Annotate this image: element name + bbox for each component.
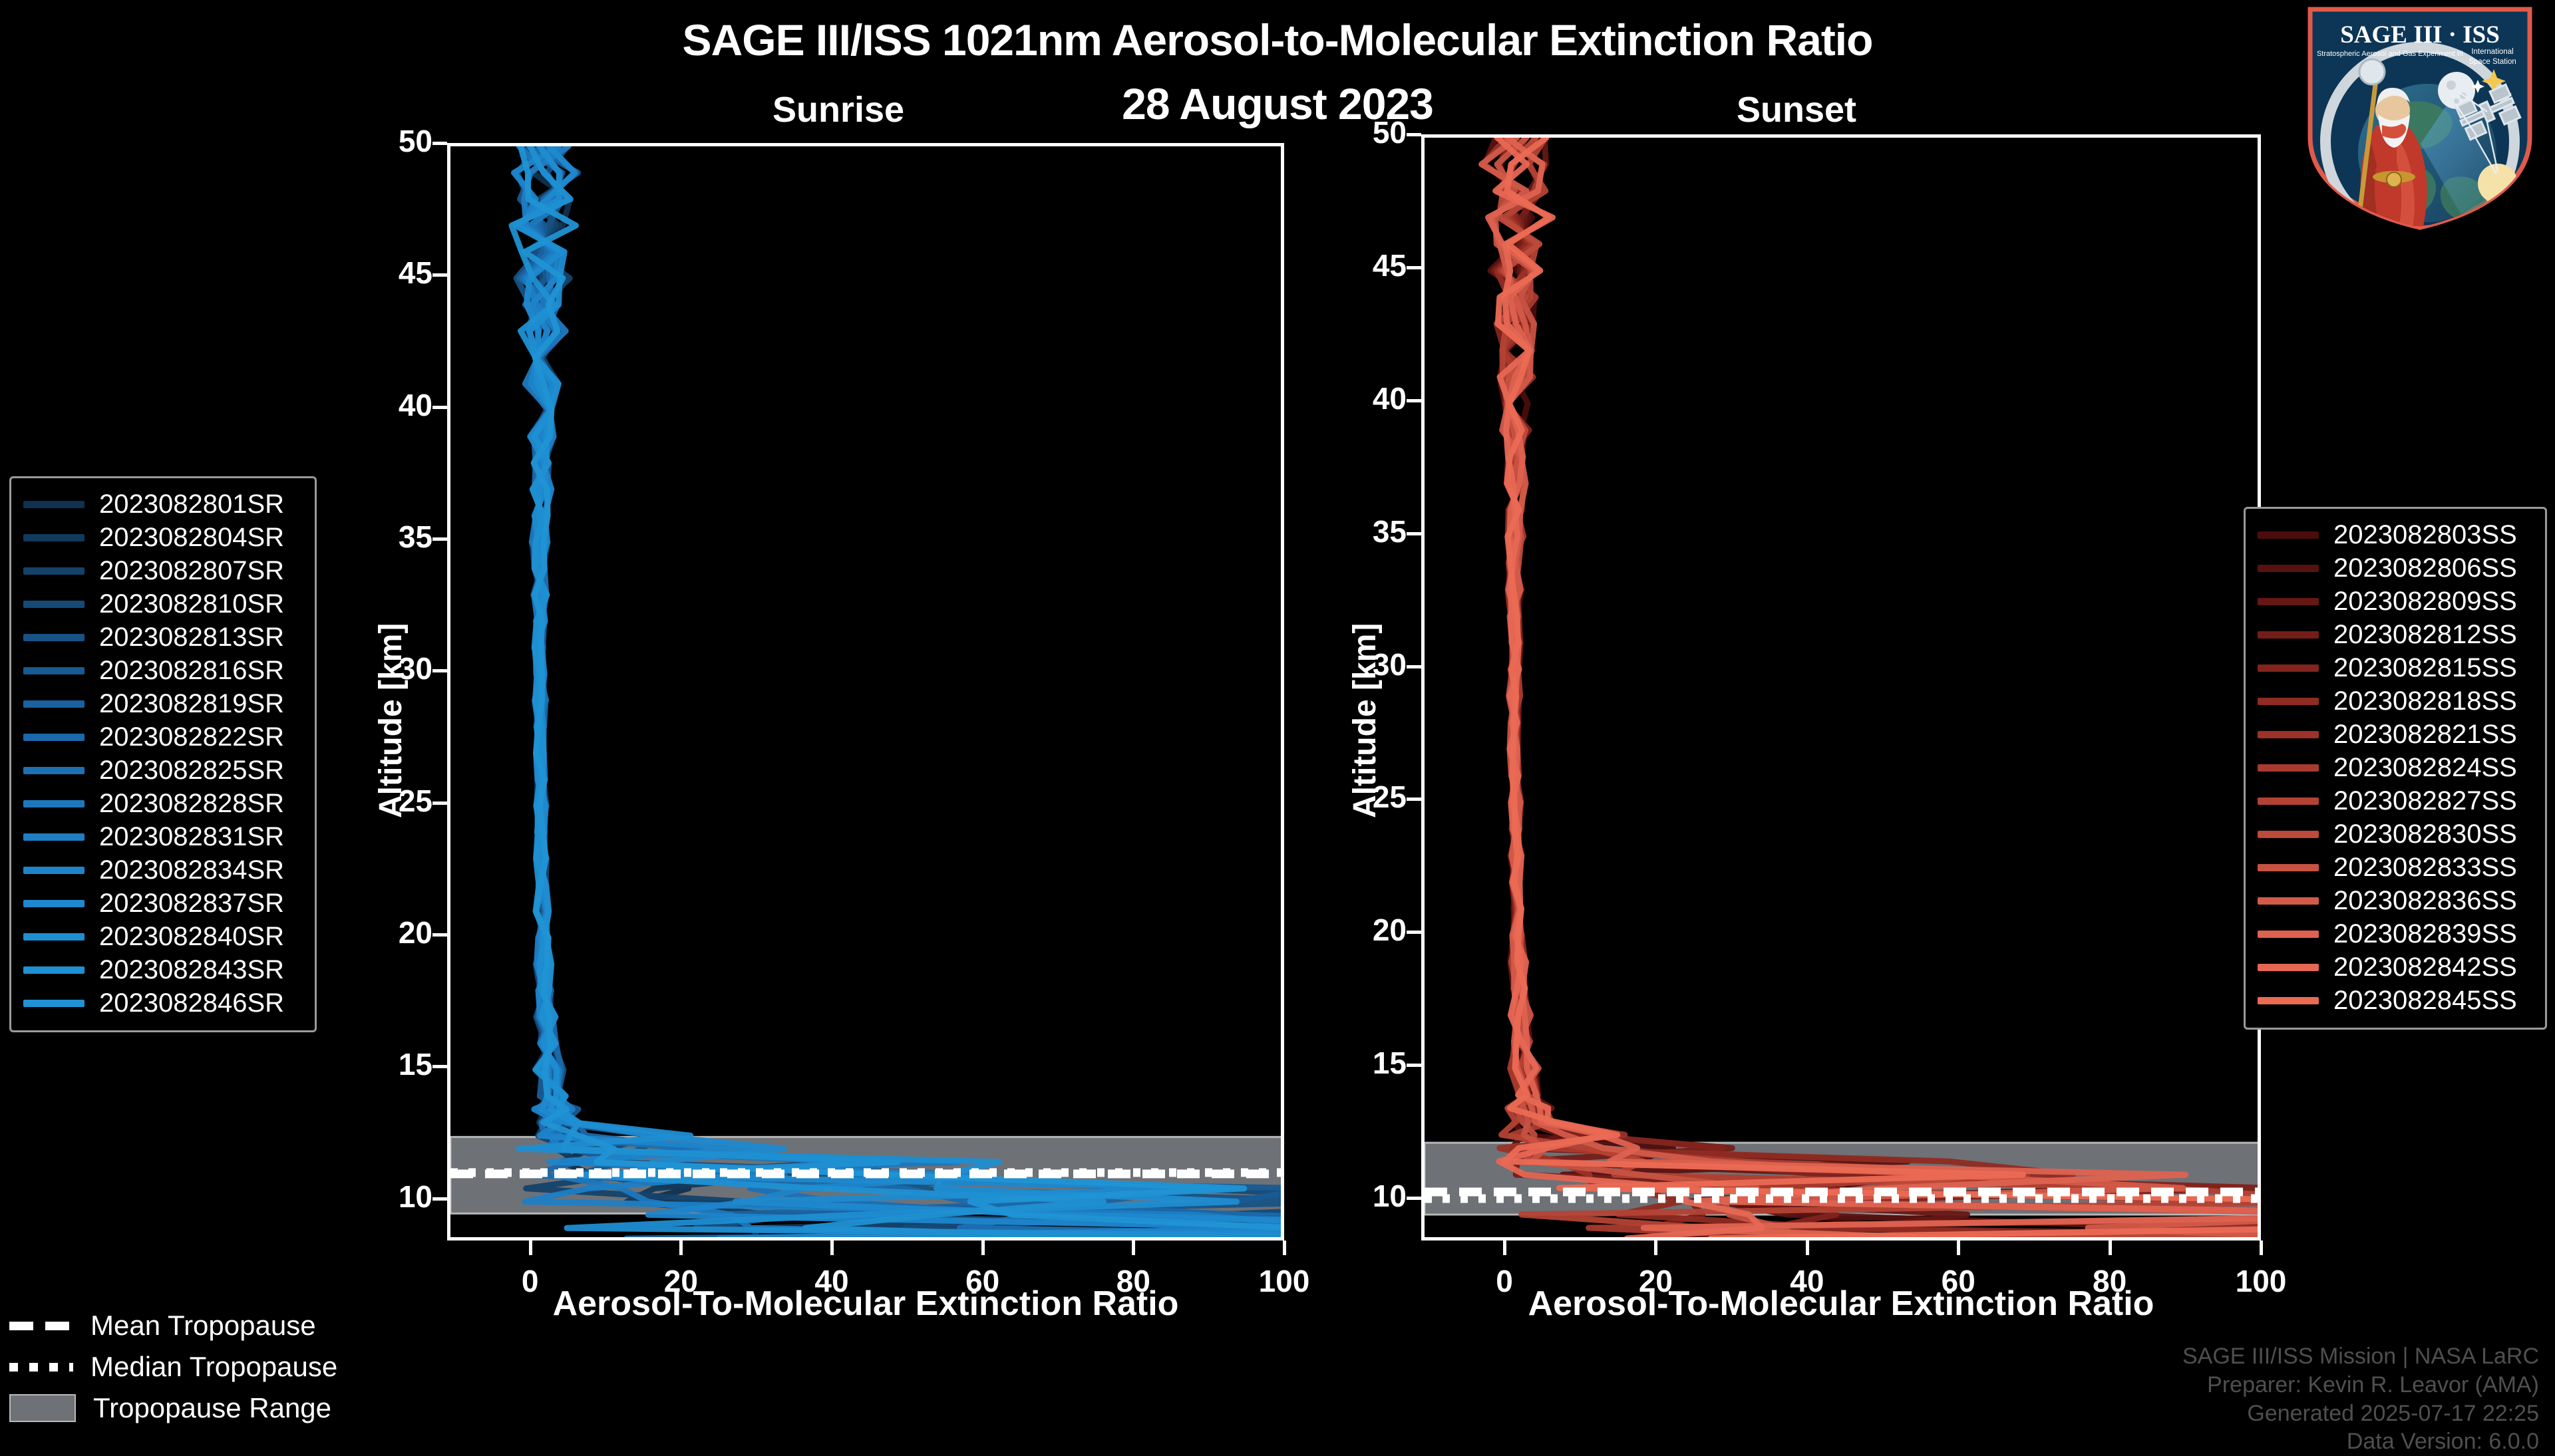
legend-color-swatch [2258, 598, 2319, 605]
sunset-legend-item[interactable]: 2023082830SS [2258, 817, 2533, 851]
x-tick-mark-20 [679, 1240, 683, 1255]
x-tick-label-80: 80 [1080, 1263, 1186, 1299]
logo-subtitle-right-line1: International [2471, 48, 2513, 56]
sunrise-legend-item[interactable]: 2023082804SR [23, 521, 303, 554]
profile-line [1496, 138, 2258, 1237]
y-tick-label-30: 30 [333, 651, 432, 686]
x-tick-mark-0 [1503, 1240, 1506, 1255]
legend-item-label: 2023082806SS [2333, 553, 2517, 583]
sunrise-legend-item[interactable]: 2023082831SR [23, 820, 303, 853]
y-tick-label-15: 15 [1307, 1045, 1407, 1081]
legend-color-swatch [23, 501, 85, 508]
tropopause-legend-label: Median Tropopause [90, 1351, 337, 1383]
panel-title-sunrise: Sunrise [652, 89, 1025, 130]
x-tick-label-0: 0 [477, 1263, 584, 1299]
sunset-legend-item[interactable]: 2023082815SS [2258, 651, 2533, 684]
legend-color-swatch [23, 667, 85, 674]
y-tick-mark-10 [432, 1197, 447, 1201]
profile-line [1505, 138, 2135, 1237]
legend-item-label: 2023082833SS [2333, 853, 2517, 883]
sunset-legend-item[interactable]: 2023082809SS [2258, 585, 2533, 618]
legend-item-label: 2023082809SS [2333, 587, 2517, 617]
y-tick-label-20: 20 [1307, 912, 1407, 948]
legend-item-label: 2023082812SS [2333, 620, 2517, 650]
x-tick-mark-0 [529, 1240, 532, 1255]
profile-line [527, 146, 1267, 1237]
x-tick-label-60: 60 [1905, 1263, 2011, 1299]
x-tick-mark-100 [2260, 1240, 2263, 1255]
legend-item-label: 2023082807SR [99, 556, 284, 586]
x-tick-label-40: 40 [778, 1263, 885, 1299]
legend-item-label: 2023082830SS [2333, 819, 2517, 849]
sunrise-legend-item[interactable]: 2023082816SR [23, 654, 303, 687]
legend-color-swatch [23, 833, 85, 841]
legend-item-label: 2023082815SS [2333, 653, 2517, 683]
logo-subtitle-left: Stratospheric Aerosol and Gas Experiment… [2317, 50, 2463, 58]
credits-block: SAGE III/ISS Mission | NASA LaRCPreparer… [2182, 1342, 2539, 1456]
legend-item-label: 2023082836SS [2333, 886, 2517, 916]
profile-line [512, 146, 1157, 1237]
tropopause-legend-item: Tropopause Range [9, 1387, 337, 1429]
sunrise-legend-item[interactable]: 2023082846SR [23, 986, 303, 1020]
y-tick-mark-45 [432, 273, 447, 277]
legend-item-label: 2023082827SS [2333, 786, 2517, 816]
sunrise-legend-item[interactable]: 2023082813SR [23, 621, 303, 654]
legend-color-swatch [23, 567, 85, 575]
tropopause-legend-item: Median Tropopause [9, 1346, 337, 1387]
sunset-legend-item[interactable]: 2023082845SS [2258, 984, 2533, 1017]
legend-item-label: 2023082831SR [99, 822, 284, 852]
y-tick-label-45: 45 [333, 255, 432, 291]
legend-item-label: 2023082816SR [99, 656, 284, 686]
legend-item-label: 2023082804SR [99, 523, 284, 553]
x-tick-label-100: 100 [1231, 1263, 1337, 1299]
sunset-legend[interactable]: 2023082803SS2023082806SS2023082809SS2023… [2244, 507, 2547, 1030]
legend-item-label: 2023082819SR [99, 689, 284, 719]
legend-item-label: 2023082846SR [99, 988, 284, 1018]
x-tick-mark-20 [1654, 1240, 1657, 1255]
profile-line [1483, 138, 2258, 1237]
legend-color-swatch [2258, 831, 2319, 838]
figure-canvas: SAGE III/ISS 1021nm Aerosol-to-Molecular… [0, 0, 2555, 1437]
y-tick-mark-40 [1407, 399, 1421, 402]
profile-line [519, 146, 1281, 1237]
logo-title: SAGE III · ISS [2340, 21, 2500, 49]
sunrise-legend-item[interactable]: 2023082843SR [23, 953, 303, 986]
x-tick-mark-60 [981, 1240, 985, 1255]
y-tick-label-40: 40 [333, 387, 432, 423]
sunset-legend-item[interactable]: 2023082812SS [2258, 618, 2533, 651]
legend-item-label: 2023082834SR [99, 855, 284, 885]
legend-item-label: 2023082843SR [99, 955, 284, 985]
legend-item-label: 2023082821SS [2333, 720, 2517, 750]
sunrise-legend-item[interactable]: 2023082834SR [23, 853, 303, 887]
x-tick-label-20: 20 [1602, 1263, 1709, 1299]
logo-subtitle-right-line2: Space Station [2469, 58, 2516, 66]
logo-ring-text: BALL · NASA LANGLEY RESEARCH CENTER · TA… [2297, 5, 2301, 8]
x-tick-label-40: 40 [1754, 1263, 1860, 1299]
y-tick-mark-50 [1407, 133, 1421, 136]
legend-color-swatch [23, 634, 85, 641]
y-tick-mark-15 [1407, 1064, 1421, 1067]
y-tick-label-50: 50 [1307, 114, 1407, 150]
sunset-legend-item[interactable]: 2023082842SS [2258, 950, 2533, 984]
legend-color-swatch [23, 800, 85, 807]
profile-line [519, 146, 1281, 1237]
sunset-legend-item[interactable]: 2023082836SS [2258, 884, 2533, 917]
legend-item-label: 2023082845SS [2333, 986, 2517, 1016]
y-tick-mark-20 [1407, 931, 1421, 934]
sunrise-legend-item[interactable]: 2023082822SR [23, 720, 303, 754]
tropopause-range-swatch [9, 1394, 76, 1422]
legend-item-label: 2023082842SS [2333, 952, 2517, 982]
legend-color-swatch [2258, 897, 2319, 905]
y-tick-mark-35 [1407, 532, 1421, 535]
sunrise-legend-item[interactable]: 2023082810SR [23, 587, 303, 621]
x-tick-label-100: 100 [2208, 1263, 2314, 1299]
y-tick-mark-10 [1407, 1197, 1421, 1200]
x-tick-mark-40 [830, 1240, 834, 1255]
sunrise-legend-item[interactable]: 2023082825SR [23, 754, 303, 787]
sunset-legend-item[interactable]: 2023082803SS [2258, 518, 2533, 551]
tropopause-legend-label: Tropopause Range [93, 1392, 331, 1424]
profile-line [1488, 138, 2258, 1237]
sunrise-legend-item[interactable]: 2023082801SR [23, 488, 303, 521]
legend-item-label: 2023082824SS [2333, 753, 2517, 783]
legend-item-label: 2023082837SR [99, 889, 284, 919]
legend-color-swatch [2258, 798, 2319, 805]
profile-line [523, 146, 1281, 1237]
profile-line [516, 146, 1281, 1237]
sage-iii-iss-logo: SAGE III · ISS Stratospheric Aerosol and… [2297, 5, 2543, 231]
profile-line [516, 146, 1281, 1237]
legend-color-swatch [23, 601, 85, 608]
sunset-legend-item[interactable]: 2023082818SS [2258, 684, 2533, 718]
x-tick-mark-100 [1283, 1240, 1286, 1255]
y-tick-label-10: 10 [1307, 1178, 1407, 1214]
sunrise-legend-item[interactable]: 2023082819SR [23, 687, 303, 720]
y-tick-mark-30 [432, 669, 447, 672]
legend-item-label: 2023082839SS [2333, 919, 2517, 949]
y-tick-mark-30 [1407, 665, 1421, 668]
y-tick-label-25: 25 [1307, 779, 1407, 815]
sunrise-plot-area [447, 143, 1284, 1240]
y-tick-label-10: 10 [333, 1179, 432, 1215]
tropopause-dashed-swatch [9, 1322, 73, 1330]
y-tick-label-25: 25 [333, 783, 432, 819]
y-tick-label-50: 50 [333, 123, 432, 159]
y-tick-mark-15 [432, 1065, 447, 1068]
sunset-plot-area [1421, 134, 2261, 1240]
legend-item-label: 2023082825SR [99, 756, 284, 786]
sunset-legend-item[interactable]: 2023082806SS [2258, 551, 2533, 585]
sunrise-legend-item[interactable]: 2023082837SR [23, 887, 303, 920]
x-tick-mark-80 [2109, 1240, 2112, 1255]
legend-item-label: 2023082840SR [99, 922, 284, 952]
y-tick-mark-20 [432, 933, 447, 937]
legend-color-swatch [23, 966, 85, 974]
x-tick-label-0: 0 [1451, 1263, 1558, 1299]
x-tick-label-60: 60 [930, 1263, 1036, 1299]
page-subtitle-date: 28 August 2023 [0, 78, 2555, 129]
sunset-legend-item[interactable]: 2023082827SS [2258, 784, 2533, 817]
legend-color-swatch [2258, 864, 2319, 871]
y-tick-label-35: 35 [333, 519, 432, 555]
legend-color-swatch [23, 767, 85, 774]
legend-color-swatch [2258, 664, 2319, 672]
sunrise-legend-item[interactable]: 2023082840SR [23, 920, 303, 953]
sunrise-legend-item[interactable]: 2023082807SR [23, 554, 303, 587]
legend-color-swatch [2258, 964, 2319, 971]
sunset-legend-item[interactable]: 2023082839SS [2258, 917, 2533, 950]
profile-line [1497, 138, 2258, 1237]
profile-line [1502, 138, 2258, 1237]
profile-line [520, 146, 1281, 1237]
x-tick-mark-80 [1132, 1240, 1135, 1255]
x-tick-mark-60 [1957, 1240, 1960, 1255]
profile-line [524, 146, 1281, 1237]
x-tick-mark-40 [1806, 1240, 1809, 1255]
y-tick-label-30: 30 [1307, 647, 1407, 682]
y-tick-mark-25 [1407, 798, 1421, 801]
profile-line [1494, 138, 1842, 1237]
legend-color-swatch [23, 867, 85, 874]
legend-item-label: 2023082801SR [99, 490, 284, 519]
legend-color-swatch [2258, 565, 2319, 572]
profile-line [1496, 138, 1798, 1237]
profile-line [1500, 138, 2258, 1237]
tropopause-legend-item: Mean Tropopause [9, 1305, 337, 1346]
sunset-legend-item[interactable]: 2023082824SS [2258, 751, 2533, 784]
legend-item-label: 2023082813SR [99, 623, 284, 653]
y-tick-mark-50 [432, 142, 447, 145]
legend-item-label: 2023082822SR [99, 722, 284, 752]
profile-line [1482, 138, 2258, 1237]
legend-color-swatch [23, 933, 85, 941]
y-tick-mark-45 [1407, 266, 1421, 269]
legend-color-swatch [2258, 997, 2319, 1004]
legend-item-label: 2023082810SR [99, 589, 284, 619]
tropopause-legend: Mean TropopauseMedian TropopauseTropopau… [9, 1305, 337, 1429]
x-tick-label-80: 80 [2057, 1263, 2163, 1299]
legend-item-label: 2023082828SR [99, 789, 284, 819]
legend-color-swatch [23, 700, 85, 708]
legend-color-swatch [23, 1000, 85, 1007]
panel-title-sunset: Sunset [1610, 89, 1983, 130]
legend-color-swatch [2258, 531, 2319, 539]
profile-line [514, 146, 1281, 1237]
legend-color-swatch [2258, 631, 2319, 639]
sunset-legend-item[interactable]: 2023082833SS [2258, 851, 2533, 884]
profile-line [1496, 138, 2258, 1237]
profile-line [1497, 138, 2206, 1237]
profile-line [1498, 138, 2258, 1237]
profile-line [526, 146, 1281, 1237]
legend-color-swatch [2258, 698, 2319, 705]
y-tick-mark-40 [432, 406, 447, 409]
legend-item-label: 2023082803SS [2333, 520, 2517, 550]
legend-color-swatch [2258, 731, 2319, 738]
legend-item-label: 2023082818SS [2333, 686, 2517, 716]
legend-color-swatch [23, 734, 85, 741]
y-tick-label-40: 40 [1307, 380, 1407, 416]
credits-line: Preparer: Kevin R. Leavor (AMA) [2182, 1371, 2539, 1399]
y-tick-mark-35 [432, 537, 447, 541]
page-title: SAGE III/ISS 1021nm Aerosol-to-Molecular… [0, 15, 2555, 65]
y-tick-label-15: 15 [333, 1046, 432, 1082]
legend-color-swatch [2258, 764, 2319, 772]
sunrise-legend-item[interactable]: 2023082828SR [23, 787, 303, 820]
sunrise-legend[interactable]: 2023082801SR2023082804SR2023082807SR2023… [9, 476, 317, 1032]
profile-line [516, 146, 1281, 1237]
y-tick-label-20: 20 [333, 915, 432, 950]
legend-color-swatch [23, 900, 85, 907]
credits-line: Data Version: 6.0.0 [2182, 1427, 2539, 1456]
tropopause-legend-label: Mean Tropopause [90, 1310, 316, 1342]
legend-color-swatch [2258, 931, 2319, 938]
profile-line [1485, 138, 2253, 1237]
credits-line: SAGE III/ISS Mission | NASA LaRC [2182, 1342, 2539, 1371]
sunset-legend-item[interactable]: 2023082821SS [2258, 718, 2533, 751]
tropopause-dotted-swatch [9, 1363, 73, 1372]
y-tick-label-35: 35 [1307, 513, 1407, 549]
profile-line [520, 146, 1216, 1237]
legend-color-swatch [23, 534, 85, 541]
y-tick-mark-25 [432, 801, 447, 805]
x-tick-label-20: 20 [627, 1263, 734, 1299]
profile-line [518, 146, 1281, 1237]
profile-line [520, 146, 1281, 1237]
y-tick-label-45: 45 [1307, 247, 1407, 283]
profile-line [530, 146, 1281, 1237]
credits-line: Generated 2025-07-17 22:25 [2182, 1399, 2539, 1428]
